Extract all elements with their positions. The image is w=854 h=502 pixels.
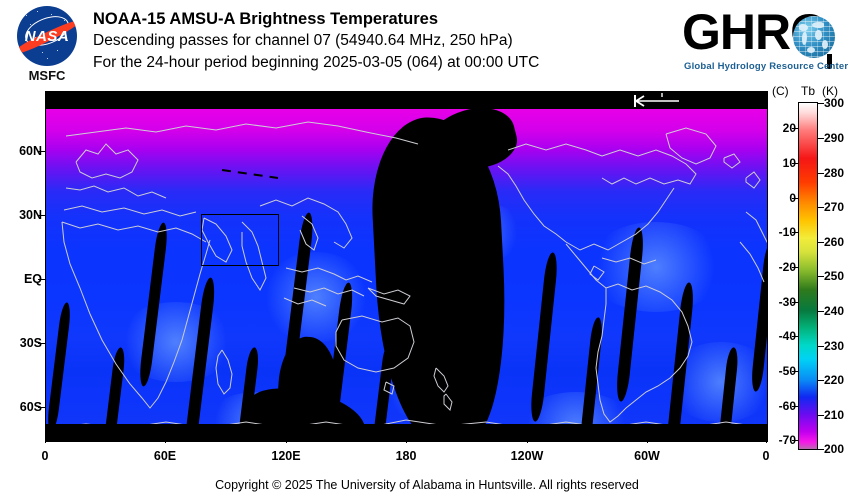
header: NASA MSFC NOAA-15 AMSU-A Brightness Temp… [0,0,854,86]
colorbar: (C) Tb (K) 300 290 280 270 260 250 240 2… [772,84,854,464]
colorbar-kelvin-200: 200 [824,442,844,456]
colorbar-unit-celsius: (C) [772,84,789,98]
colorbar-kelvin-250: 250 [824,269,844,283]
colorbar-celsius-m70: -70 [779,433,796,447]
nasa-insignia-icon: NASA [17,6,77,66]
lon-label-180: 180 [396,449,417,463]
left-arrow-marker-icon [631,93,683,109]
lon-label-120w: 120W [511,449,544,463]
colorbar-kelvin-220: 220 [824,373,844,387]
colorbar-celsius-m30: -30 [779,295,796,309]
title-block: NOAA-15 AMSU-A Brightness Temperatures D… [93,8,673,74]
colorbar-celsius-20: 20 [783,121,796,135]
colorbar-celsius-m40: -40 [779,329,796,343]
subtitle-channel: Descending passes for channel 07 (54940.… [93,30,673,52]
latitude-axis: 60N 30N EQ 30S 60S [0,91,42,442]
colorbar-kelvin-230: 230 [824,339,844,353]
nasa-center-label: MSFC [14,68,80,83]
colorbar-celsius-m10: -10 [779,225,796,239]
longitude-axis: 0 60E 120E 180 120W 60W 0 [45,443,768,469]
colorbar-kelvin-240: 240 [824,304,844,318]
subtitle-period: For the 24-hour period beginning 2025-03… [93,52,673,74]
lon-label-120e: 120E [271,449,300,463]
globe-icon [793,16,835,58]
colorbar-kelvin-270: 270 [824,200,844,214]
colorbar-kelvin-290: 290 [824,131,844,145]
colorbar-celsius-m60: -60 [779,399,796,413]
south-polar-no-data-band [46,424,767,441]
nasa-logo: NASA MSFC [14,4,80,84]
colorbar-kelvin-280: 280 [824,166,844,180]
page-title: NOAA-15 AMSU-A Brightness Temperatures [93,8,673,30]
lon-label-60e: 60E [154,449,176,463]
map-panel[interactable] [45,91,768,442]
colorbar-celsius-m20: -20 [779,260,796,274]
colorbar-variable-label: Tb [801,84,815,98]
ghrc-tagline: Global Hydrology Resource Center [684,61,848,72]
map-image[interactable] [45,91,768,442]
colorbar-kelvin-260: 260 [824,235,844,249]
colorbar-kelvin-300: 300 [824,96,844,110]
lon-label-360: 0 [763,449,770,463]
colorbar-celsius-10: 10 [783,156,796,170]
colorbar-celsius-0: 0 [789,191,796,205]
lon-label-60w: 60W [634,449,660,463]
dashed-track [46,92,768,442]
nasa-wordmark: NASA [17,28,77,45]
colorbar-gradient [798,102,818,450]
lon-label-0: 0 [42,449,49,463]
ghrc-logo: GHRC Global Hydrology Resource Center [682,6,838,80]
colorbar-kelvin-210: 210 [824,408,844,422]
colorbar-celsius-m50: -50 [779,364,796,378]
copyright-notice: Copyright © 2025 The University of Alaba… [0,478,854,492]
